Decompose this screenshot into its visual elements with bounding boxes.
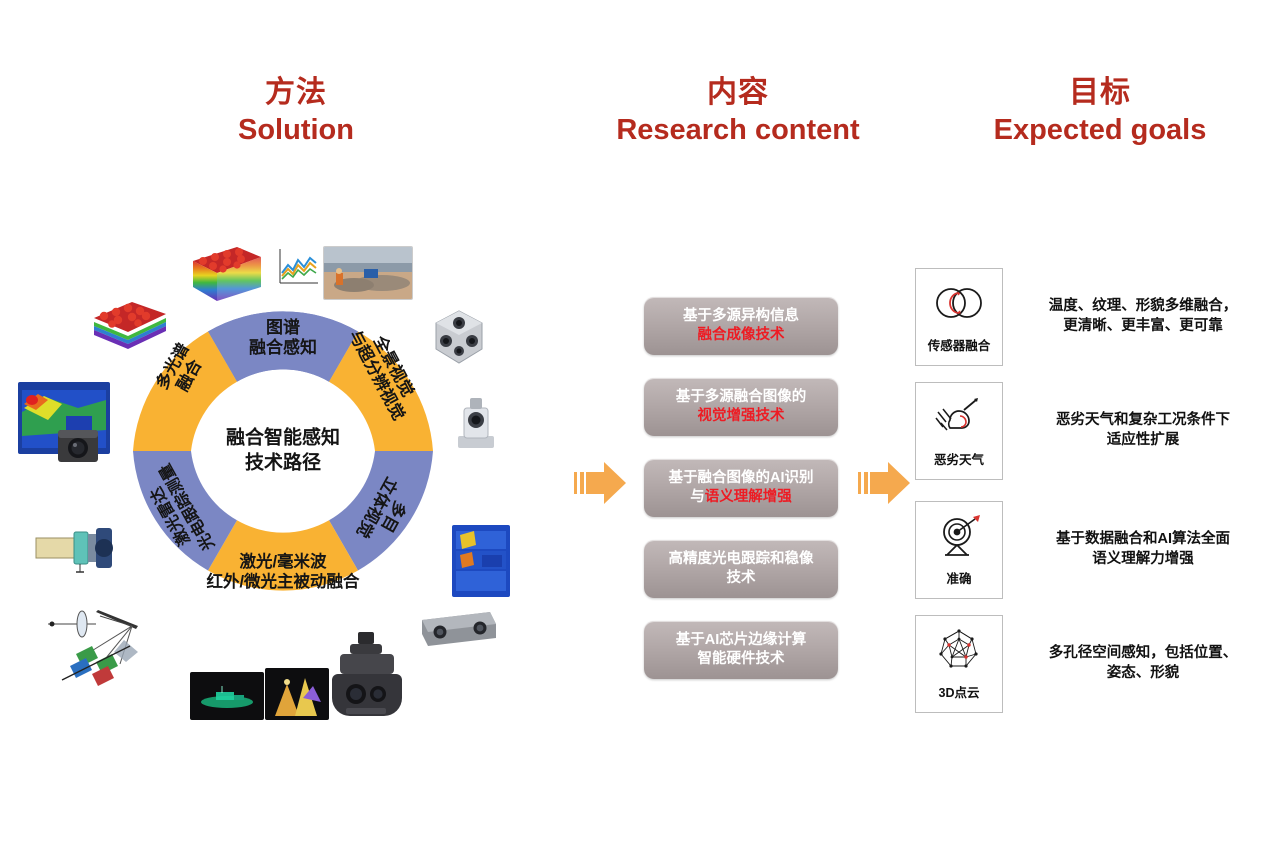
arrow-content-to-goals — [856, 458, 912, 508]
goal-text-1: 温度、纹理、形貌多维融合， 更清晰、更丰富、更可靠 — [1025, 296, 1261, 336]
goal-text-3-line2: 语义理解力增强 — [1092, 551, 1194, 567]
donut-center-label: 融合智能感知 技术路径 — [188, 426, 378, 475]
spectral-curve-plot — [270, 243, 322, 295]
goal-text-2-line1: 恶劣天气和复杂工况条件下 — [1056, 412, 1230, 428]
arrow-solution-to-content — [572, 458, 628, 508]
goal-row-point-cloud: 3D点云 多孔径空间感知，包括位置、 姿态、形貌 — [915, 615, 1260, 711]
lidar-point-cloud-crane — [265, 668, 329, 720]
goal-caption-2: 恶劣天气 — [934, 449, 984, 468]
research-item-1-highlight: 融合成像技术 — [698, 327, 785, 343]
optical-bench-diagram — [30, 520, 130, 576]
infrared-camera-module — [52, 420, 106, 470]
research-item-1-line1: 基于多源异构信息 — [683, 308, 799, 324]
bad-weather-icon — [934, 395, 984, 439]
goal-caption-1: 传感器融合 — [928, 335, 991, 354]
goal-text-1-line2: 更清晰、更丰富、更可靠 — [1063, 318, 1223, 334]
goal-icon-box-1: 传感器融合 — [915, 268, 1003, 366]
research-item-3[interactable]: 基于融合图像的AI识别 与语义理解增强 — [644, 459, 838, 517]
research-item-1[interactable]: 基于多源异构信息 融合成像技术 — [644, 297, 838, 355]
column-header-solution: 方法 Solution — [176, 76, 416, 146]
fusion-technology-donut: 图谱 融合感知 全景视觉 与超分辨视觉 多目 立体视觉 激光/毫米波 红外/微光… — [128, 296, 438, 606]
donut-center-line2: 技术路径 — [245, 452, 321, 473]
goal-row-accuracy: 准确 基于数据融合和AI算法全面 语义理解力增强 — [915, 501, 1260, 597]
goal-text-2: 恶劣天气和复杂工况条件下 适应性扩展 — [1025, 410, 1261, 450]
goal-text-3-line1: 基于数据融合和AI算法全面 — [1056, 531, 1230, 547]
goal-text-4-line2: 姿态、形貌 — [1107, 665, 1180, 681]
research-item-2-line1: 基于多源融合图像的 — [676, 389, 807, 405]
goal-text-4-line1: 多孔径空间感知，包括位置、 — [1049, 645, 1238, 661]
goal-icon-box-4: 3D点云 — [915, 615, 1003, 713]
goal-row-bad-weather: 恶劣天气 恶劣天气和复杂工况条件下 适应性扩展 — [915, 382, 1260, 478]
column-header-goals: 目标 Expected goals — [950, 76, 1250, 146]
optical-ray-schematic — [40, 596, 168, 688]
research-item-2[interactable]: 基于多源融合图像的 视觉增强技术 — [644, 378, 838, 436]
gimbal-eo-turret — [330, 630, 404, 718]
diagram-canvas: 方法 Solution 内容 Research content 目标 Expec… — [0, 0, 1268, 866]
goal-text-3: 基于数据融合和AI算法全面 语义理解力增强 — [1025, 529, 1261, 569]
header-goals-en: Expected goals — [950, 114, 1250, 146]
pipeline-inspection-photo — [323, 246, 413, 300]
research-item-5-line1: 基于AI芯片边缘计算 — [676, 632, 807, 648]
goal-row-sensor-fusion: 传感器融合 温度、纹理、形貌多维融合， 更清晰、更丰富、更可靠 — [915, 268, 1260, 364]
header-goals-cn: 目标 — [950, 76, 1250, 110]
lidar-point-cloud-vessel — [190, 672, 264, 720]
goal-text-1-line1: 温度、纹理、形貌多维融合， — [1049, 298, 1238, 314]
goal-text-2-line2: 适应性扩展 — [1107, 432, 1180, 448]
header-content-en: Research content — [568, 114, 908, 146]
research-item-3-highlight: 语义理解增强 — [705, 489, 792, 505]
stereo-depth-map — [452, 525, 510, 597]
optical-instrument — [450, 392, 502, 454]
research-item-4-line2: 技术 — [727, 570, 756, 586]
research-item-4-line1: 高精度光电跟踪和稳像 — [669, 551, 814, 567]
header-content-cn: 内容 — [568, 76, 908, 110]
column-header-content: 内容 Research content — [568, 76, 908, 146]
header-solution-en: Solution — [176, 114, 416, 146]
goal-text-4: 多孔径空间感知，包括位置、 姿态、形貌 — [1025, 643, 1261, 683]
goal-caption-3: 准确 — [946, 568, 971, 587]
research-item-5[interactable]: 基于AI芯片边缘计算 智能硬件技术 — [644, 621, 838, 679]
point-cloud-icon — [936, 628, 982, 672]
goal-icon-box-2: 恶劣天气 — [915, 382, 1003, 480]
sensor-fusion-icon — [932, 281, 986, 325]
goal-icon-box-3: 准确 — [915, 501, 1003, 599]
research-item-5-line2: 智能硬件技术 — [698, 651, 785, 667]
goal-caption-4: 3D点云 — [939, 682, 980, 701]
research-item-3-line1: 基于融合图像的AI识别 — [669, 470, 814, 486]
research-item-3-mid: 与 — [690, 489, 705, 505]
target-accuracy-icon — [935, 514, 983, 558]
header-solution-cn: 方法 — [176, 76, 416, 110]
stereo-camera-bar — [418, 606, 500, 650]
research-item-4[interactable]: 高精度光电跟踪和稳像 技术 — [644, 540, 838, 598]
research-item-2-highlight: 视觉增强技术 — [698, 408, 785, 424]
donut-center-line1: 融合智能感知 — [226, 427, 340, 448]
